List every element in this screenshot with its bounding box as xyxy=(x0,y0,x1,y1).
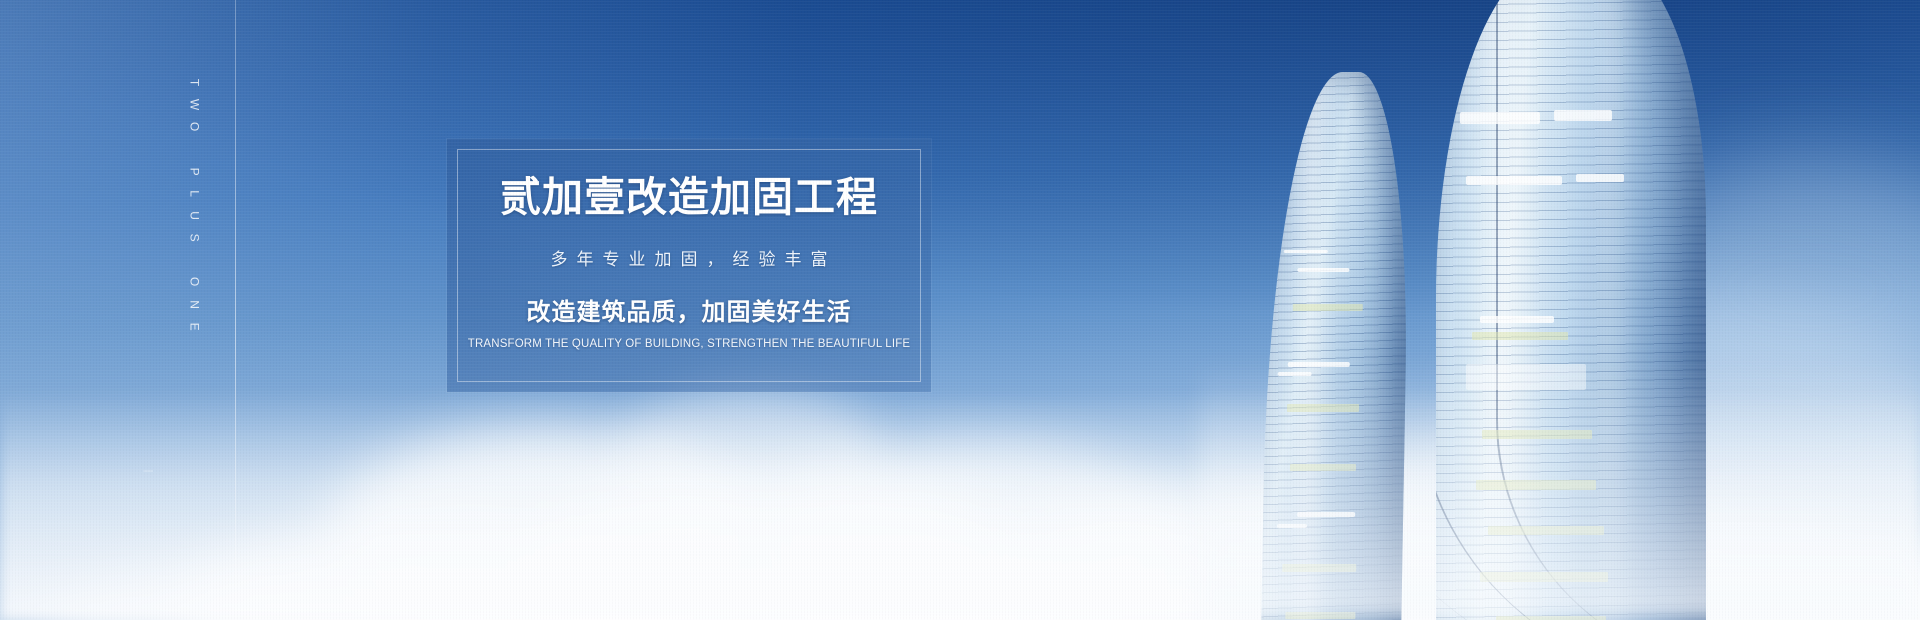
tower-lit-window xyxy=(1472,332,1568,340)
skyscraper-group xyxy=(1200,0,1920,620)
tower-left-icon xyxy=(1261,72,1411,620)
tower-lit-window xyxy=(1480,572,1608,582)
tower-window xyxy=(1277,524,1307,528)
tower-floor-bands xyxy=(1261,72,1411,620)
tower-window xyxy=(1460,112,1540,124)
tower-lit-window xyxy=(1476,480,1596,490)
vertical-brand-letter: E xyxy=(187,309,200,345)
hero-banner: T W O P L U S O N E | 贰加壹改造加固工程 多年专业加固，经… xyxy=(0,0,1920,620)
tower-window xyxy=(1466,364,1586,390)
tower-lit-window xyxy=(1482,430,1592,439)
vertical-brand-label: T W O P L U S O N E xyxy=(176,68,212,343)
tower-window xyxy=(1284,250,1328,253)
panel-content: 贰加壹改造加固工程 多年专业加固，经验丰富 改造建筑品质，加固美好生活 TRAN… xyxy=(447,139,931,392)
tower-window xyxy=(1480,316,1554,323)
tower-window xyxy=(1554,110,1612,121)
tower-lit-window xyxy=(1488,526,1604,535)
tower-lit-window xyxy=(1285,612,1355,619)
page-title: 贰加壹改造加固工程 xyxy=(500,175,878,221)
corner-tick-mark: | xyxy=(142,470,153,474)
tower-window xyxy=(1297,268,1349,272)
tower-lit-window xyxy=(1293,304,1363,311)
tower-lit-window xyxy=(1287,404,1359,412)
panel-tagline: 改造建筑品质，加固美好生活 xyxy=(527,292,852,327)
tower-lit-window xyxy=(1290,464,1356,471)
tower-window xyxy=(1297,512,1355,517)
hero-text-panel: 贰加壹改造加固工程 多年专业加固，经验丰富 改造建筑品质，加固美好生活 TRAN… xyxy=(447,139,931,392)
tower-window xyxy=(1288,362,1350,367)
tower-window xyxy=(1576,174,1624,182)
tower-window xyxy=(1466,176,1562,185)
panel-english-tagline: TRANSFORM THE QUALITY OF BUILDING, STREN… xyxy=(468,338,910,350)
vertical-brand-letter: S xyxy=(187,221,200,257)
vertical-divider-rule xyxy=(235,0,236,620)
panel-subtitle: 多年专业加固，经验丰富 xyxy=(542,245,837,270)
tower-right-icon xyxy=(1436,0,1706,620)
tower-window xyxy=(1278,372,1312,376)
tower-lit-window xyxy=(1282,564,1356,572)
tower-lit-window xyxy=(1496,616,1606,620)
vertical-brand-letter: O xyxy=(187,110,200,146)
